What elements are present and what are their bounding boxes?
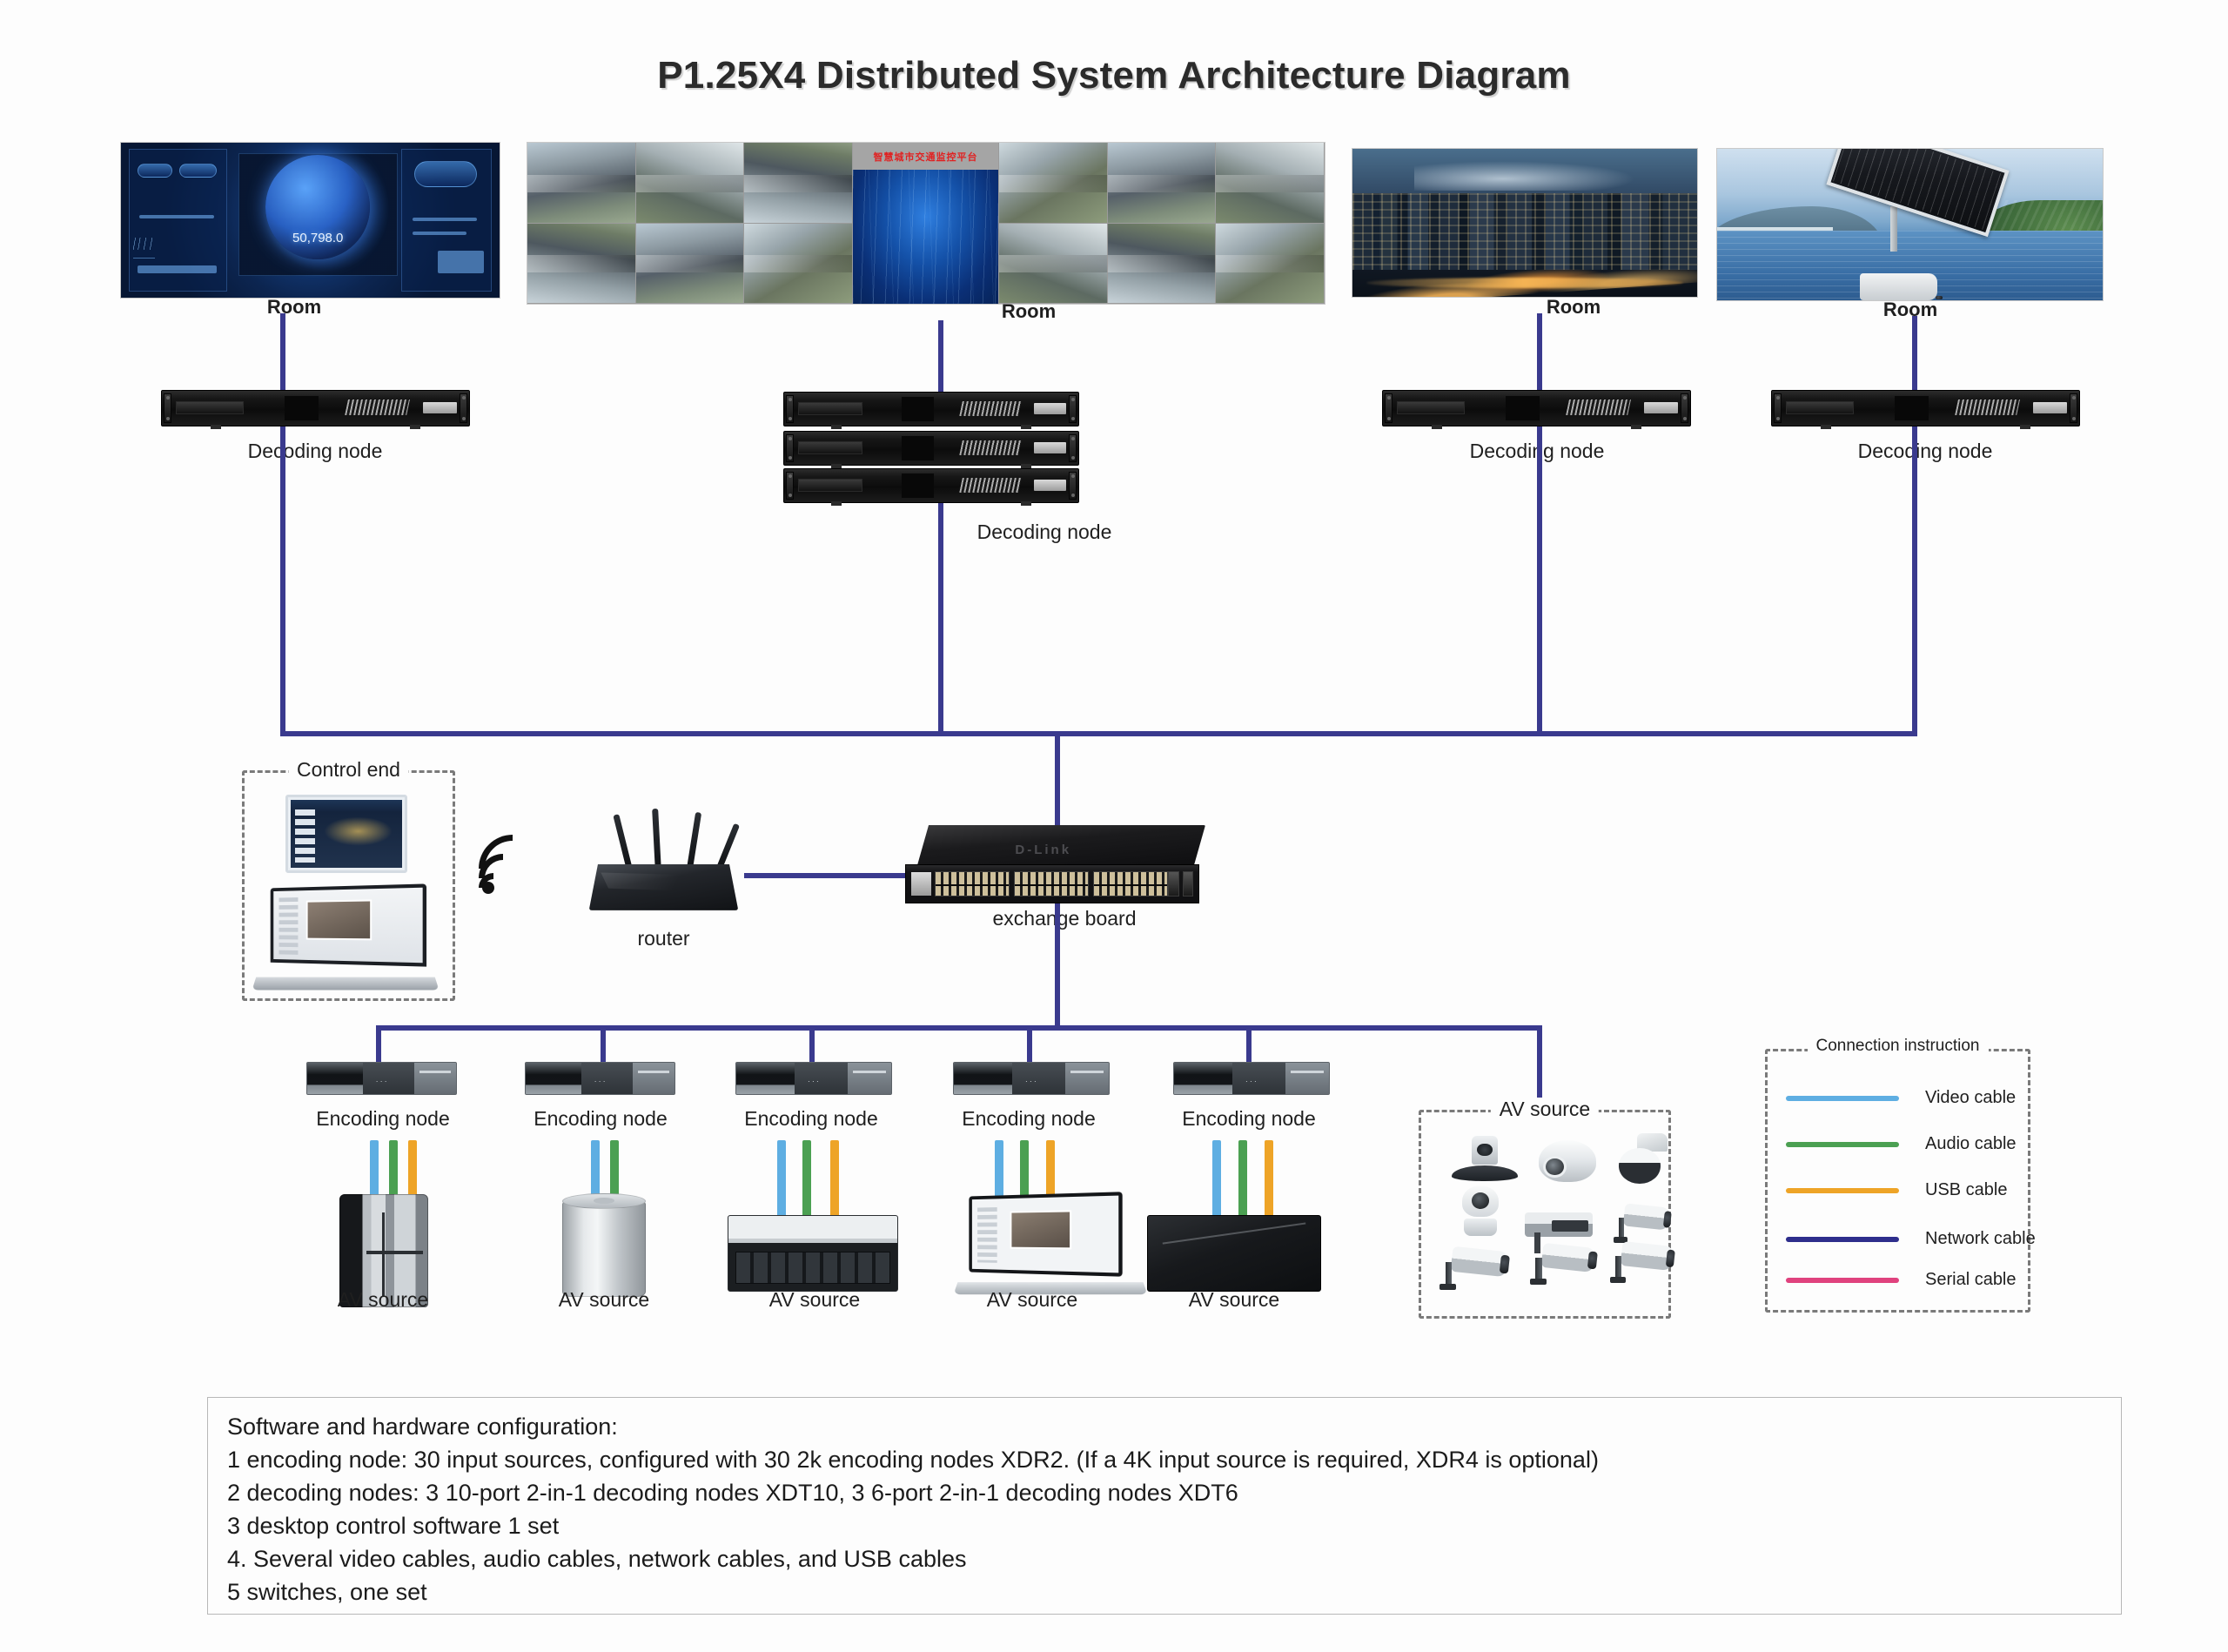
wall-bullet-camera-icon [1615,1203,1669,1241]
decoding-node-label-4: Decoding node [1812,440,2038,463]
encoding-node-4: ··· [953,1062,1110,1095]
decoding-node-2-unit-2 [783,431,1079,466]
night-city-screen [1352,149,1697,297]
legend-label-video: Video cable [1925,1088,2016,1108]
usb-cable-1 [408,1140,417,1201]
encoding-node-label-2: Encoding node [505,1107,696,1131]
ip-pan-camera-icon [1455,1185,1506,1236]
video-cable-5 [1212,1140,1221,1219]
legend-row-usb: USB cable [1786,1180,2008,1200]
room-label-2: Room [942,300,1116,323]
exchange-board-switch [905,825,1205,903]
audio-cable-1 [389,1140,398,1201]
av-source-rack-server [728,1215,898,1292]
decoding-node-3 [1382,390,1691,426]
decoding-node-2-unit-3 [783,468,1079,503]
legend-row-serial: Serial cable [1786,1270,2017,1290]
bullet-camera-icon-2 [1532,1243,1594,1283]
conference-camera-icon [1452,1136,1518,1181]
network-line-decoder1-down [280,426,285,736]
av-source-label-2: AV source [517,1288,691,1312]
network-line-decoder3-down [1537,426,1542,736]
switch-sfp-ports [1168,871,1193,896]
av-source-label-5: AV source [1147,1288,1321,1312]
network-line-room3-to-decoder [1537,313,1542,390]
network-line-room4-to-decoder [1912,316,1917,390]
connection-instruction-label: Connection instruction [1808,1037,1989,1056]
wall-blue-field [853,170,998,304]
router-device [579,818,748,918]
audio-cable-3 [802,1140,811,1219]
legend-label-serial: Serial cable [1925,1270,2017,1290]
switch-port-face [905,864,1199,903]
room-label-3: Room [1486,296,1661,319]
encoding-node-2: ··· [525,1062,675,1095]
decoding-node-1 [161,390,470,426]
configuration-box: Software and hardware configuration: 1 e… [207,1397,2122,1615]
legend-row-audio: Audio cable [1786,1134,2017,1154]
room-label-1: Room [207,296,381,319]
diagram-canvas: P1.25X4 Distributed System Architecture … [0,0,2228,1652]
control-tablet [285,795,407,873]
config-line-2: 2 decoding nodes: 3 10-port 2-in-1 decod… [227,1476,2104,1509]
switch-port-group-2 [1014,871,1089,896]
video-cable-3 [777,1140,786,1219]
av-source-black-box [1147,1215,1321,1292]
encoding-node-5: ··· [1173,1062,1330,1095]
wall-column-1 [527,143,636,304]
exchange-board-label: exchange board [964,907,1164,930]
network-cable-swatch [1786,1237,1899,1242]
network-line-encoder-2 [601,1025,606,1064]
dashboard-globe-panel: 50,798.0 [238,153,398,276]
wall-column-2 [636,143,745,304]
config-line-5: 5 switches, one set [227,1575,2104,1608]
river-camera-screen [1717,149,2103,300]
room-label-4: Room [1823,299,1997,321]
wall-banner-text: 智慧城市交通监控平台 [853,143,998,170]
dashboard-value: 50,798.0 [292,231,343,245]
network-line-encoder-4 [1027,1025,1032,1064]
encoding-node-label-1: Encoding node [287,1107,479,1131]
encoding-node-label-4: Encoding node [933,1107,1124,1131]
serial-cable-swatch [1786,1278,1899,1283]
audio-cable-swatch [1786,1142,1899,1147]
av-source-laptop [956,1194,1145,1297]
network-trunk-bus [280,731,1917,736]
config-heading: Software and hardware configuration: [227,1410,2104,1443]
config-line-1: 1 encoding node: 30 input sources, confi… [227,1443,2104,1476]
video-cable-swatch [1786,1096,1899,1101]
decoding-node-label-2: Decoding node [931,520,1158,544]
wall-column-5 [1108,143,1217,304]
decoding-node-4 [1771,390,2080,426]
network-line-encoder-5 [1246,1025,1252,1064]
wifi-icon [480,838,541,901]
av-source-label-4: AV source [945,1288,1119,1312]
encoding-node-3: ··· [735,1062,892,1095]
wall-column-4 [999,143,1108,304]
encoding-node-label-3: Encoding node [715,1107,907,1131]
usb-cable-5 [1265,1140,1273,1219]
usb-cable-swatch [1786,1188,1899,1193]
switch-brand-plate [911,872,931,896]
room-display-1: 50,798.0 [120,142,500,299]
av-source-label-3: AV source [728,1288,902,1312]
network-line-trunk-to-switch [1055,731,1060,836]
network-line-router-to-switch [744,873,905,878]
legend-label-usb: USB cable [1925,1180,2008,1200]
decoding-node-label-1: Decoding node [202,440,428,463]
encoding-node-1: ··· [306,1062,457,1095]
network-line-switch-down [1055,903,1060,1025]
surveillance-camera-graphic [1860,273,1937,300]
network-encoder-bus [376,1025,1538,1031]
dome-camera-icon [1539,1140,1596,1182]
network-line-decoder4-down [1912,426,1917,736]
decoding-node-2-unit-1 [783,392,1079,426]
legend-row-network: Network cable [1786,1229,2036,1249]
dashboard-screen: 50,798.0 [121,143,500,298]
network-line-decoder2-down [938,503,943,736]
switch-top-shell [917,825,1205,866]
config-line-3: 3 desktop control software 1 set [227,1509,2104,1542]
network-line-room1-to-decoder [280,313,285,390]
audio-cable-5 [1238,1140,1247,1219]
video-cable-1 [370,1140,379,1201]
video-wall-screen: 智慧城市交通监控平台 [527,143,1325,304]
wall-column-6 [1216,143,1325,304]
config-line-4: 4. Several video cables, audio cables, n… [227,1542,2104,1575]
dashboard-left-panel [129,149,227,292]
encoding-node-label-5: Encoding node [1153,1107,1345,1131]
network-line-room2-to-decoder [938,320,943,394]
dashboard-right-panel [401,149,492,292]
room-display-3 [1352,148,1698,298]
wall-center-panel: 智慧城市交通监控平台 [853,143,999,304]
legend-label-audio: Audio cable [1925,1134,2017,1154]
legend-row-video: Video cable [1786,1088,2016,1108]
legend-label-network: Network cable [1925,1229,2036,1249]
control-laptop [254,886,437,992]
switch-port-group-1 [935,871,1010,896]
av-source-cylinder [562,1199,646,1297]
network-line-encoder-1 [376,1025,381,1064]
room-display-4 [1716,148,2104,301]
network-line-camera-group [1537,1025,1542,1105]
ptz-camera-icon [1617,1133,1668,1184]
control-end-label: Control end [288,758,409,782]
camera-av-source-label: AV source [1491,1098,1599,1121]
bullet-camera-icon-3 [1612,1241,1673,1281]
av-source-label-1: AV source [296,1288,470,1312]
usb-cable-3 [830,1140,839,1219]
switch-port-group-3 [1093,871,1168,896]
video-cable-2 [591,1140,600,1201]
audio-cable-2 [610,1140,619,1201]
page-title: P1.25X4 Distributed System Architecture … [0,54,2228,97]
bullet-camera-icon [1441,1246,1507,1288]
room-display-2: 智慧城市交通监控平台 [527,142,1325,305]
router-label: router [574,927,753,950]
wall-column-3 [744,143,853,304]
network-line-encoder-3 [809,1025,815,1064]
